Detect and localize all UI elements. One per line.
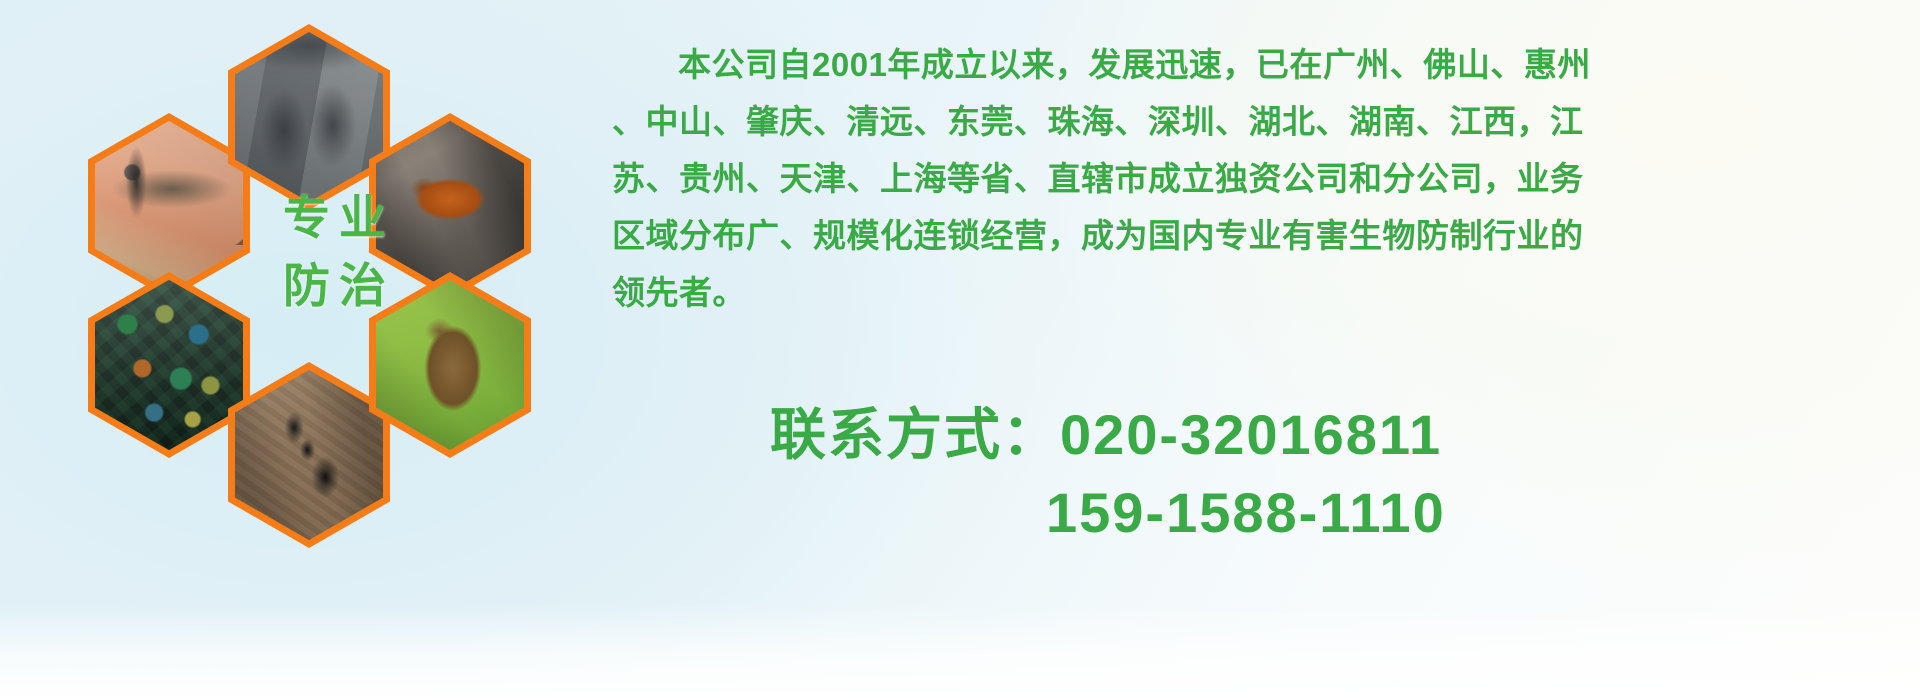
honeycomb-photo-cluster: 专业 防治 [88,0,588,560]
ant-photo [235,370,383,540]
intro-line-2: 、中山、肇庆、清远、东莞、珠海、深圳、湖北、湖南、江西，江 [612,93,1912,150]
flies-photo [95,280,243,450]
contact-phone-mobile[interactable]: 159-1588-1110 [770,474,1446,552]
label-line-1: 专业 [254,188,424,248]
contact-block: 联系方式：020-32016811 159-1588-1110 [770,396,1446,552]
hex-cell-flies[interactable] [88,272,250,458]
intro-line-3: 苏、贵州、天津、上海等省、直辖市成立独资公司和分公司，业务 [612,150,1912,207]
rat-photo [235,32,383,202]
hex-cell-ant[interactable] [228,362,390,548]
mosquito-photo [95,121,243,291]
honeycomb-center-label: 专业 防治 [254,188,424,316]
intro-line-1: 本公司自2001年成立以来，发展迅速，已在广州、佛山、惠州 [612,36,1912,93]
contact-phone-landline[interactable]: 联系方式：020-32016811 [770,396,1446,474]
label-line-2: 防治 [254,256,424,316]
intro-paragraph: 本公司自2001年成立以来，发展迅速，已在广州、佛山、惠州 、中山、肇庆、清远、… [612,36,1912,321]
promo-banner: 专业 防治 本公司自2001年成立以来，发展迅速，已在广州、佛山、惠州 、中山、… [0,0,1920,700]
intro-line-5: 领先者。 [612,264,1912,321]
hex-cell-mosquito[interactable] [88,113,250,299]
hex-cell-rat[interactable] [228,24,390,210]
intro-line-4: 区域分布广、规模化连锁经营，成为国内专业有害生物防制行业的 [612,207,1912,264]
